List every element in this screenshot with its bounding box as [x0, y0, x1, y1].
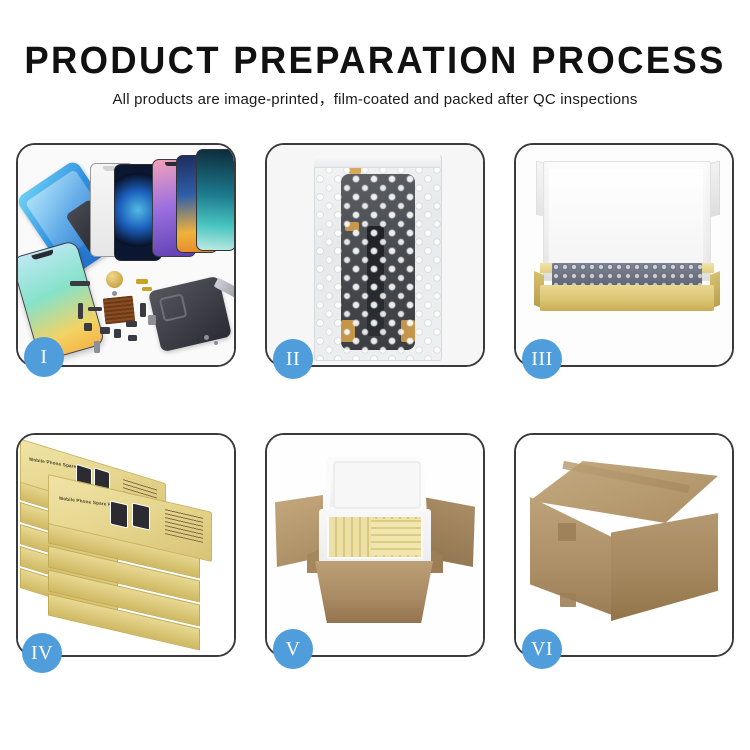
step-badge-4: IV — [22, 633, 62, 673]
step-badge-3: III — [522, 339, 562, 379]
small-part-icon — [128, 335, 137, 341]
page-title: PRODUCT PREPARATION PROCESS — [15, 40, 735, 83]
box-label-spec-lines — [165, 508, 203, 543]
foam-liner-icon — [549, 169, 703, 269]
process-step-panel-2[interactable]: II — [265, 143, 485, 367]
yellow-boxes-row-icon — [371, 519, 421, 555]
small-part-icon — [114, 329, 121, 338]
product-preparation-infographic: PRODUCT PREPARATION PROCESS All products… — [0, 0, 750, 750]
step-2-image — [267, 145, 483, 365]
small-part-icon — [78, 303, 83, 319]
step-6-image — [516, 435, 732, 655]
yellow-box-base-icon — [540, 285, 714, 311]
header: PRODUCT PREPARATION PROCESS All products… — [0, 0, 750, 130]
small-part-icon — [126, 321, 137, 327]
small-part-icon — [88, 307, 102, 311]
step-badge-1-label: I — [40, 347, 47, 367]
screw-icon — [112, 291, 117, 296]
small-part-icon — [140, 303, 146, 317]
step-badge-5: V — [273, 629, 313, 669]
small-part-icon — [94, 341, 100, 353]
screw-icon — [214, 341, 218, 345]
step-badge-6: VI — [522, 629, 562, 669]
step-1-image — [18, 145, 234, 365]
process-step-panel-4[interactable]: Mobile Phone Spare Parts Mobile Phone Sp… — [16, 433, 236, 657]
bubble-wrapped-screen-illustration — [267, 145, 483, 365]
sim-tray-icon — [148, 315, 156, 325]
step-badge-1: I — [24, 337, 64, 377]
phone-screen-teal-icon — [196, 149, 234, 251]
step-badge-4-label: IV — [31, 643, 53, 663]
stacked-boxes-illustration: Mobile Phone Spare Parts Mobile Phone Sp… — [18, 435, 234, 655]
step-badge-2: II — [273, 339, 313, 379]
step-3-image — [516, 145, 732, 365]
step-badge-6-label: VI — [531, 639, 553, 659]
foam-lid-rim-icon — [333, 461, 421, 509]
carton-flap-tab-icon — [558, 523, 576, 541]
gold-flex-part-icon — [136, 279, 148, 284]
process-step-panel-1[interactable]: I — [16, 143, 236, 367]
step-badge-3-label: III — [531, 349, 552, 369]
page-subtitle: All products are image-printed，film-coat… — [0, 88, 750, 109]
small-part-icon — [70, 281, 90, 286]
process-step-grid: I — [16, 143, 734, 685]
box-label-screen-thumb — [111, 502, 127, 528]
gold-flex-part-icon — [142, 287, 152, 291]
sealed-carton-illustration — [516, 435, 732, 655]
small-part-icon — [100, 327, 110, 334]
foam-box-in-carton-illustration — [267, 435, 483, 655]
step-badge-5-label: V — [286, 639, 301, 659]
gold-coil-part-icon — [106, 271, 123, 288]
bag-seal-icon — [314, 155, 440, 168]
step-5-image — [267, 435, 483, 655]
screw-icon — [204, 335, 209, 340]
box-label-screen-thumb — [133, 504, 149, 530]
process-step-panel-5[interactable]: V — [265, 433, 485, 657]
bubble-wrap-bag-icon — [314, 155, 442, 361]
process-step-panel-6[interactable]: VI — [514, 433, 734, 657]
carton-flap-tab-icon — [560, 593, 576, 607]
phone-parts-illustration — [18, 145, 234, 365]
process-step-panel-3[interactable]: III — [514, 143, 734, 367]
small-part-icon — [84, 323, 92, 331]
carton-front-icon — [315, 561, 433, 623]
open-inner-box-illustration — [516, 145, 732, 365]
step-4-image: Mobile Phone Spare Parts Mobile Phone Sp… — [18, 435, 234, 655]
step-badge-2-label: II — [286, 349, 300, 369]
bubble-texture — [315, 156, 441, 360]
